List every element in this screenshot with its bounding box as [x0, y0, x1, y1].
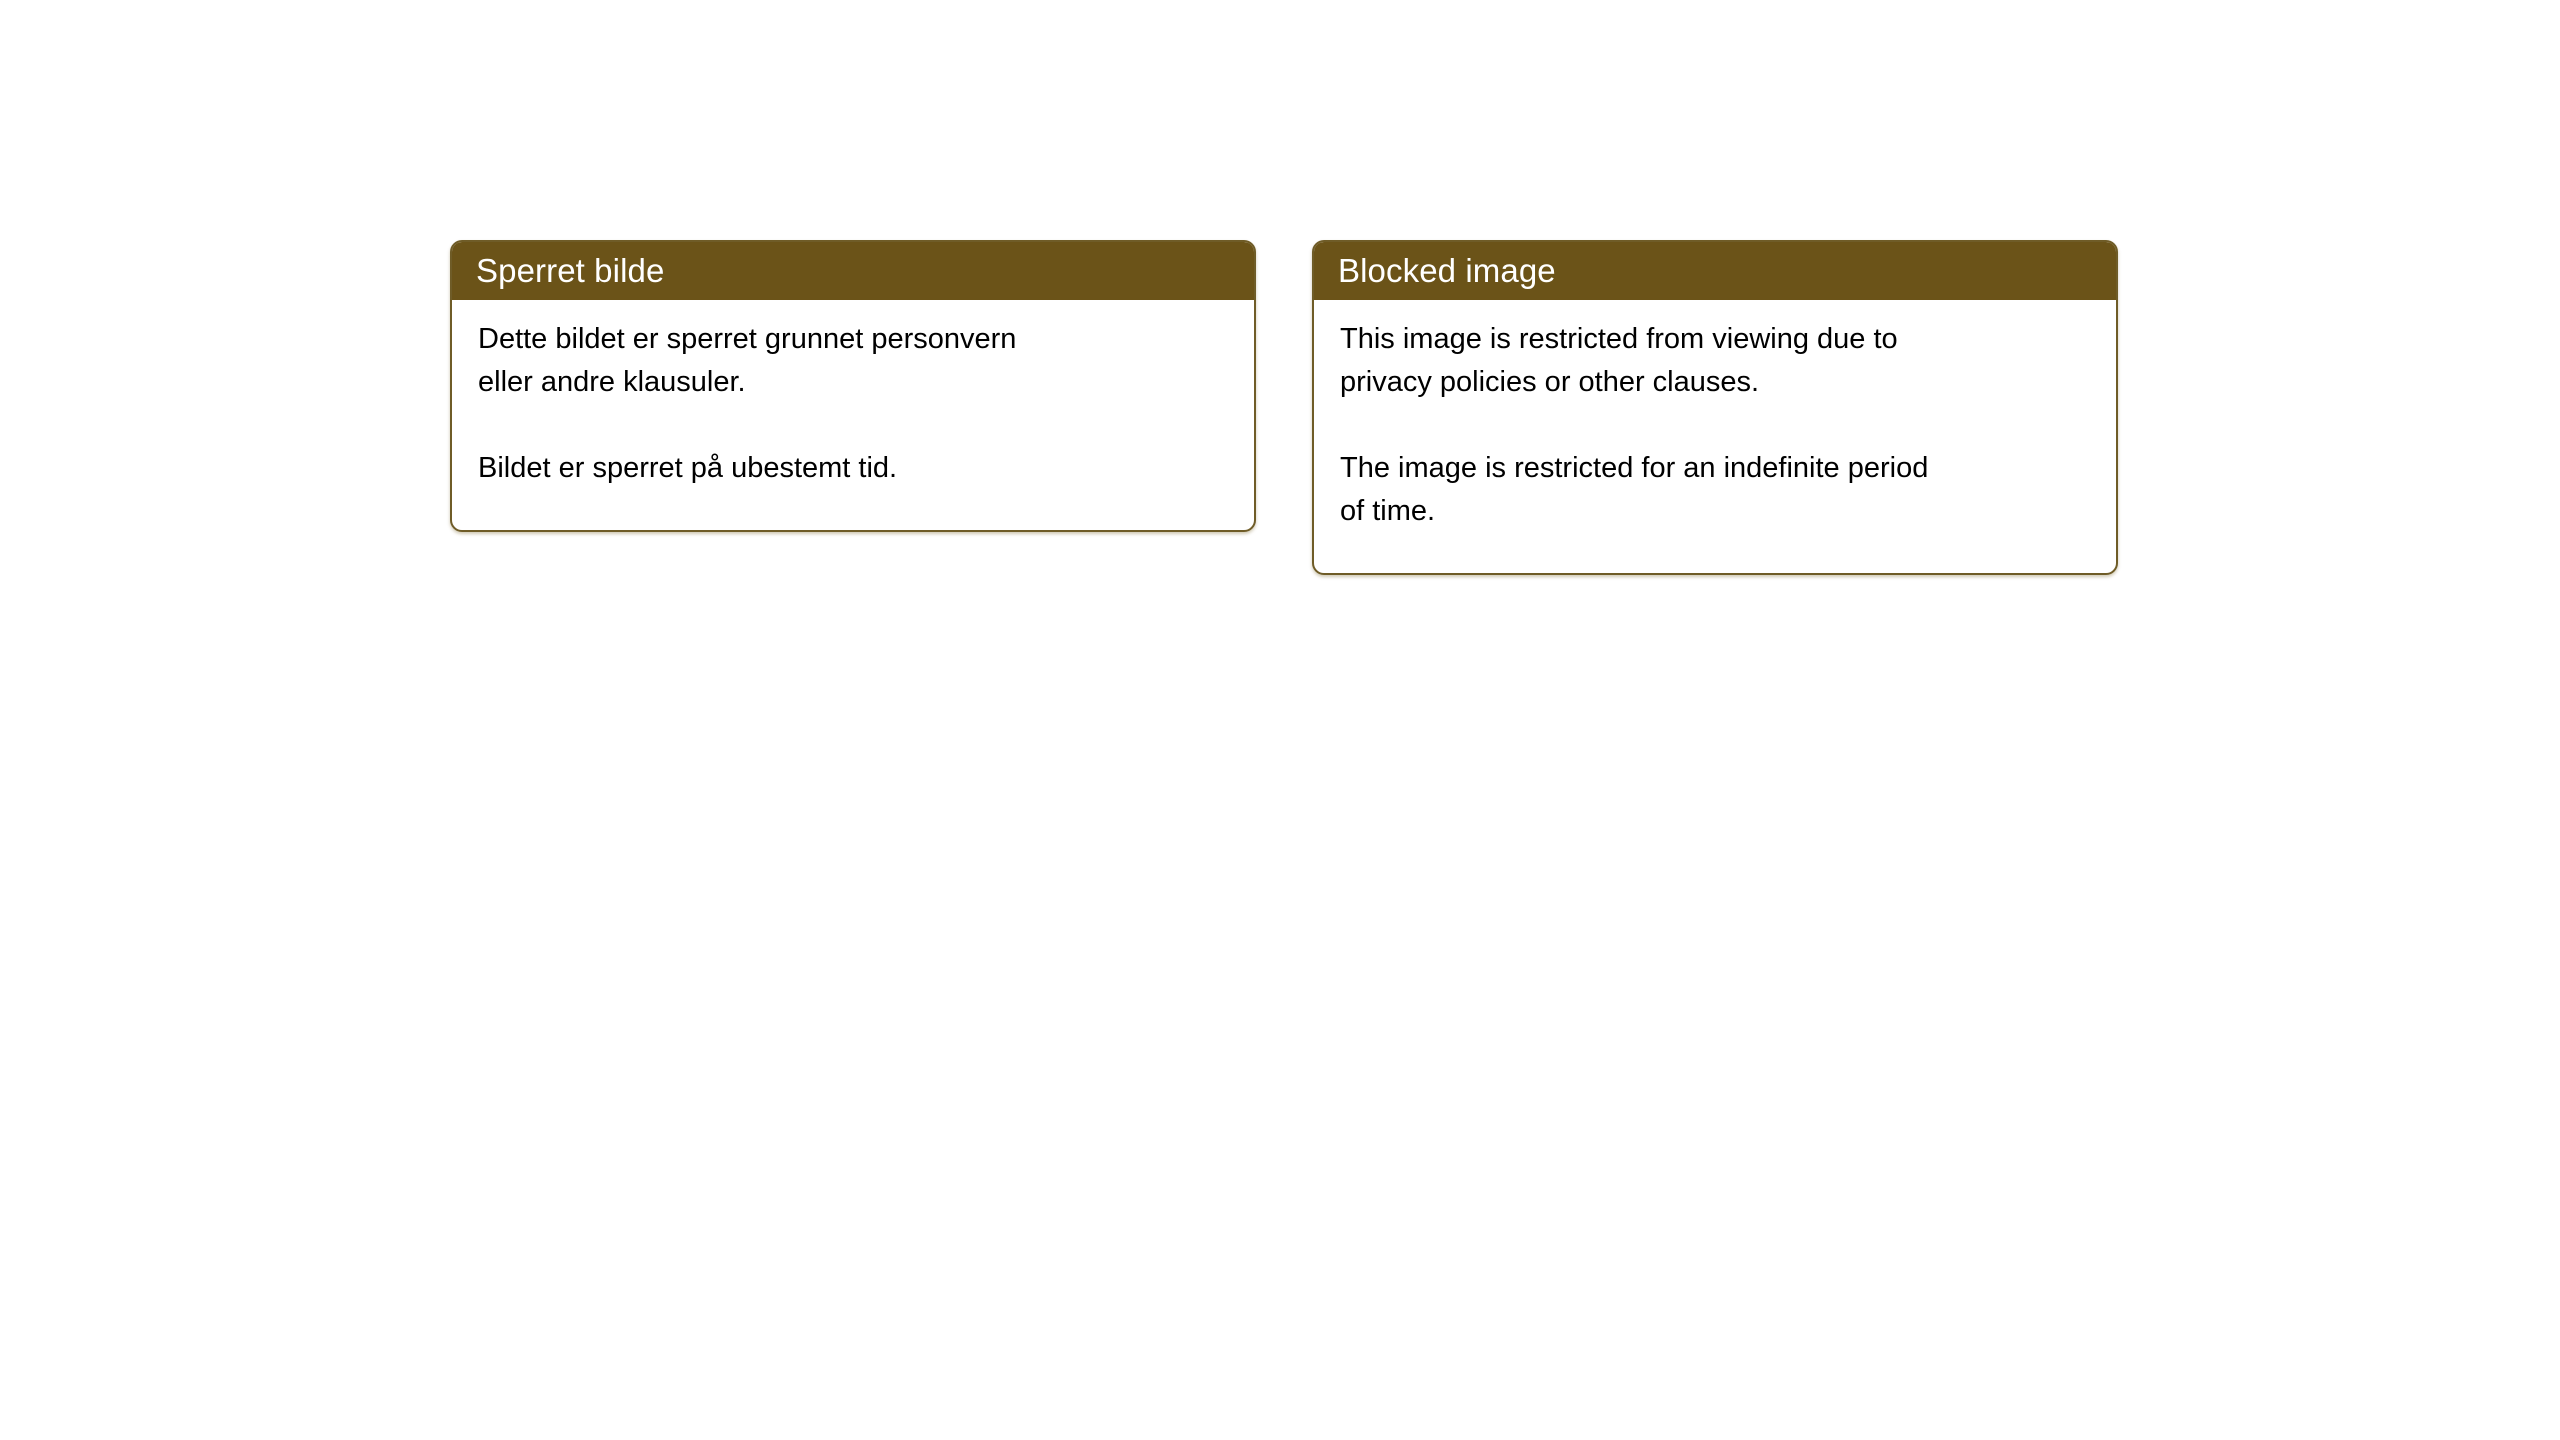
blocked-image-card-norwegian: Sperret bilde Dette bildet er sperret gr…	[450, 240, 1256, 532]
card-body-norwegian: Dette bildet er sperret grunnet personve…	[452, 300, 1254, 530]
card-paragraph-primary-english: This image is restricted from viewing du…	[1340, 318, 2092, 404]
card-paragraph-secondary-english: The image is restricted for an indefinit…	[1340, 447, 2092, 533]
card-paragraph-primary-norwegian: Dette bildet er sperret grunnet personve…	[478, 318, 1230, 404]
card-body-english: This image is restricted from viewing du…	[1314, 300, 2116, 573]
blocked-image-card-english: Blocked image This image is restricted f…	[1312, 240, 2118, 575]
card-title-norwegian: Sperret bilde	[476, 254, 664, 287]
blocked-image-card-row: Sperret bilde Dette bildet er sperret gr…	[450, 240, 2118, 575]
card-header-norwegian: Sperret bilde	[450, 240, 1256, 300]
card-title-english: Blocked image	[1338, 254, 1556, 287]
page-root: Sperret bilde Dette bildet er sperret gr…	[0, 0, 2560, 1440]
card-header-english: Blocked image	[1312, 240, 2118, 300]
card-paragraph-secondary-norwegian: Bildet er sperret på ubestemt tid.	[478, 447, 1230, 490]
